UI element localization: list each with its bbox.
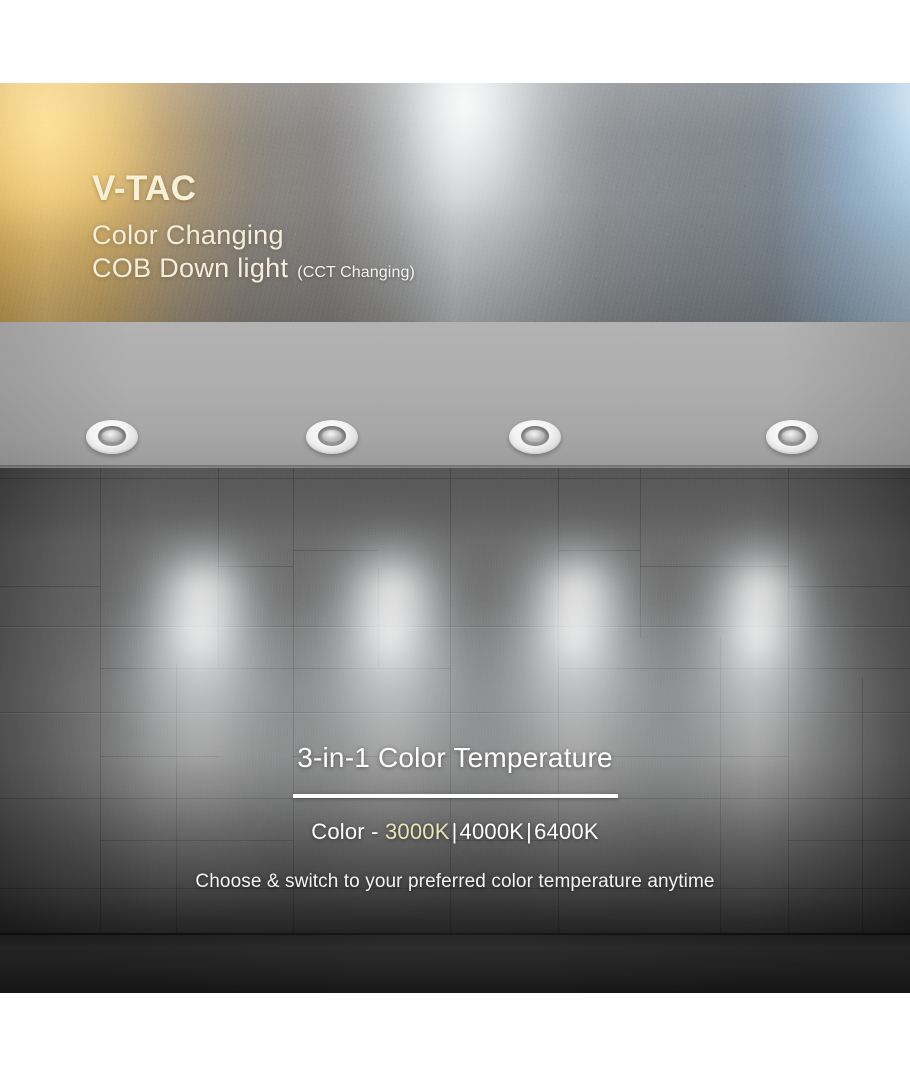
temp-separator: | xyxy=(524,819,534,844)
temp-value-6400k: 6400K xyxy=(534,819,599,844)
feature-headline: 3-in-1 Color Temperature xyxy=(0,742,910,774)
product-marketing-image: V-TAC Color Changing COB Down light (CCT… xyxy=(0,0,910,1080)
banner-tagline-note: (CCT Changing) xyxy=(297,264,415,282)
temp-value-4000k: 4000K xyxy=(460,819,525,844)
brand-logo-text: V-TAC xyxy=(92,171,415,206)
feature-caption: Choose & switch to your preferred color … xyxy=(0,871,910,893)
banner-tagline-line1: Color Changing xyxy=(92,220,415,252)
downlight-fixture-3 xyxy=(509,420,561,454)
floor xyxy=(0,933,910,993)
floor-reflection xyxy=(0,933,910,993)
color-label-prefix: Color - xyxy=(311,819,385,844)
banner-text-block: V-TAC Color Changing COB Down light (CCT… xyxy=(92,171,415,285)
divider-rule xyxy=(293,794,618,798)
feature-text-overlay: 3-in-1 Color Temperature Color - 3000K|4… xyxy=(0,742,910,893)
downlight-lens xyxy=(782,430,802,443)
temp-value-3000k: 3000K xyxy=(385,819,450,844)
banner-tagline-line2: COB Down light xyxy=(92,253,288,285)
downlight-fixture-2 xyxy=(306,420,358,454)
color-temperature-list: Color - 3000K|4000K|6400K xyxy=(0,819,910,845)
downlight-fixture-1 xyxy=(86,420,138,454)
downlight-lens xyxy=(525,430,545,443)
temp-separator: | xyxy=(450,819,460,844)
banner-tagline-line2-row: COB Down light (CCT Changing) xyxy=(92,253,415,285)
downlight-lens xyxy=(102,430,122,443)
downlight-lens xyxy=(322,430,342,443)
downlight-fixture-4 xyxy=(766,420,818,454)
room-scene-photo: 3-in-1 Color Temperature Color - 3000K|4… xyxy=(0,322,910,993)
hero-banner: V-TAC Color Changing COB Down light (CCT… xyxy=(0,83,910,322)
